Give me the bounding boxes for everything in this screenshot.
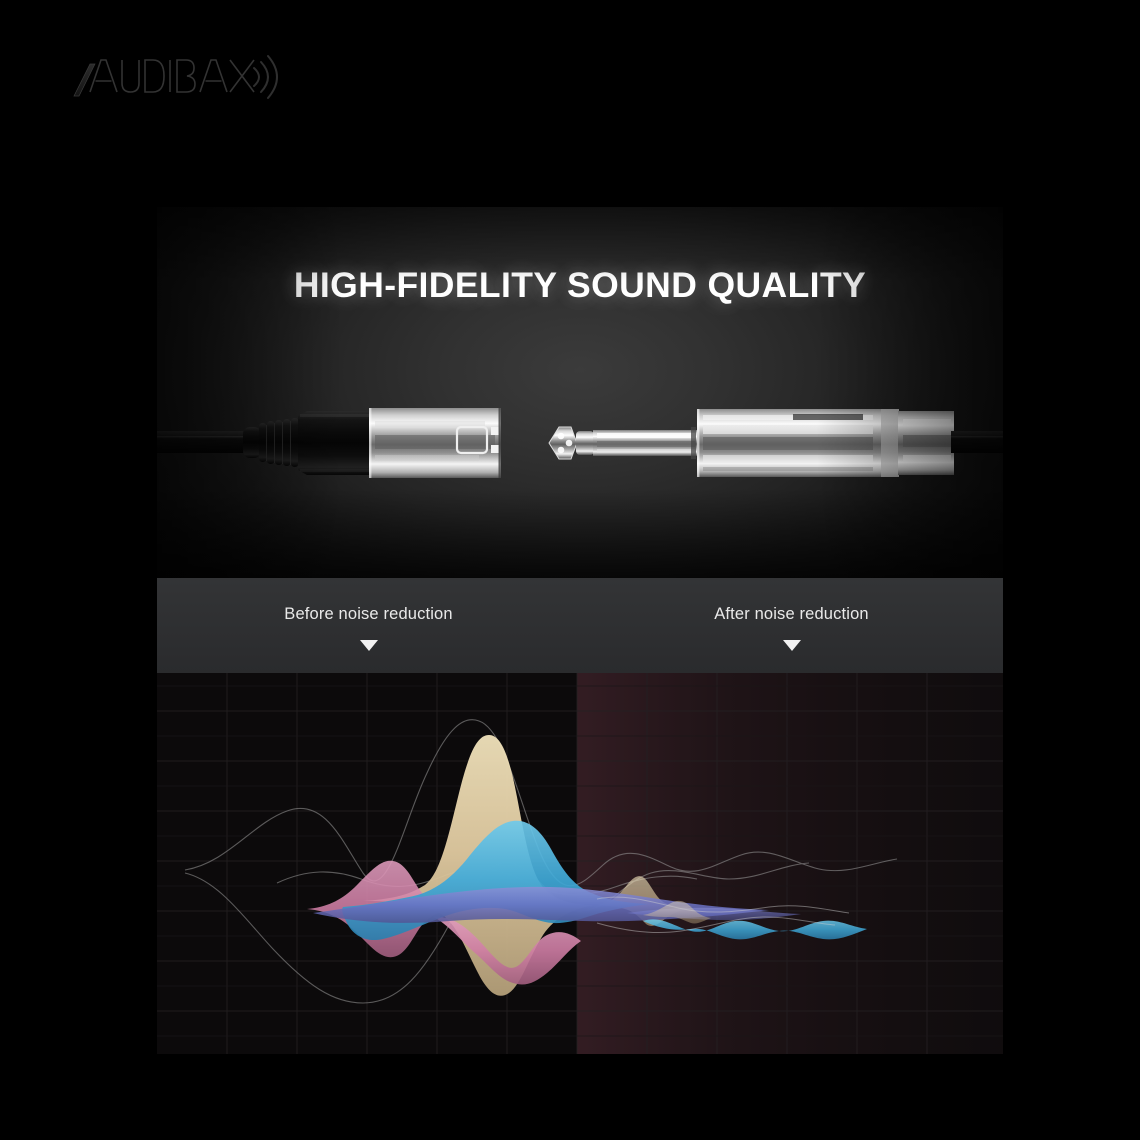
- ts-jack-connector: [549, 409, 1003, 477]
- after-column: After noise reduction: [580, 578, 1003, 673]
- xlr-connector: [157, 408, 501, 478]
- after-label: After noise reduction: [580, 605, 1003, 624]
- before-label: Before noise reduction: [157, 605, 580, 624]
- audibax-logo[interactable]: [72, 46, 282, 108]
- before-column: Before noise reduction: [157, 578, 580, 673]
- hero-section: HIGH-FIDELITY SOUND QUALITY: [157, 207, 1003, 578]
- connector-illustration: [157, 383, 1003, 503]
- triangle-down-icon: [360, 640, 378, 651]
- page-title: HIGH-FIDELITY SOUND QUALITY: [157, 265, 1003, 306]
- comparison-label-band: Before noise reduction After noise reduc…: [157, 578, 1003, 673]
- triangle-down-icon: [783, 640, 801, 651]
- waveform-comparison-chart: [157, 673, 1003, 1054]
- audibax-wordmark-icon: [72, 46, 282, 108]
- product-infographic: HIGH-FIDELITY SOUND QUALITY: [0, 0, 1140, 1140]
- product-panel: HIGH-FIDELITY SOUND QUALITY: [157, 207, 1003, 1054]
